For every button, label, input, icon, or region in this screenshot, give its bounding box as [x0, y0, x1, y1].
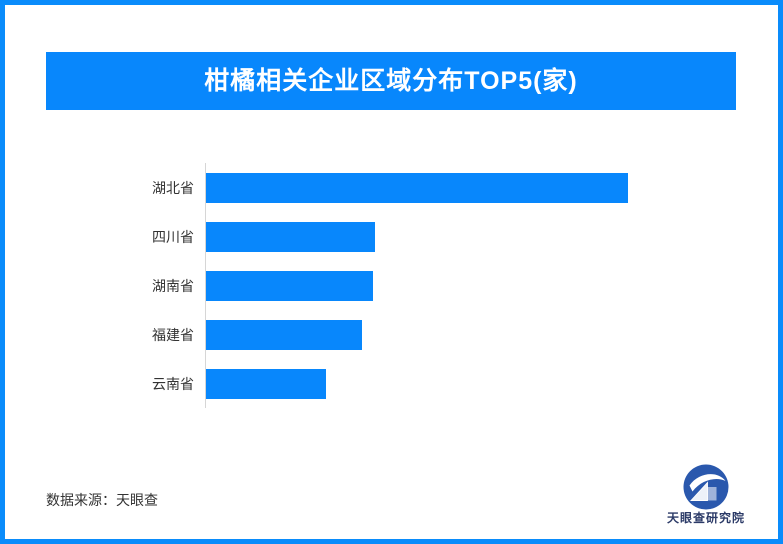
bar-track [206, 222, 736, 252]
bar-track [206, 173, 736, 203]
chart-plot-area: 湖北省四川省湖南省福建省云南省 [46, 155, 736, 417]
brand-logo-block: 天眼查研究院 [656, 463, 756, 531]
data-source-note: 数据来源：天眼查 [46, 493, 158, 507]
bar-row: 湖北省 [46, 163, 736, 212]
category-label: 云南省 [46, 377, 194, 391]
bar-row: 四川省 [46, 212, 736, 261]
category-label: 四川省 [46, 230, 194, 244]
bar-track [206, 271, 736, 301]
chart-title-banner: 柑橘相关企业区域分布TOP5(家) [46, 52, 736, 110]
bar-row: 湖南省 [46, 261, 736, 310]
bar-云南省 [206, 369, 326, 399]
page-title: 柑橘相关企业区域分布TOP5(家) [204, 69, 578, 94]
infographic-canvas: 柑橘相关企业区域分布TOP5(家) 湖北省四川省湖南省福建省云南省 数据来源：天… [0, 0, 783, 544]
brand-logo-caption: 天眼查研究院 [667, 512, 745, 524]
bar-track [206, 369, 736, 399]
bar-row: 云南省 [46, 359, 736, 408]
category-label: 湖北省 [46, 181, 194, 195]
bar-湖南省 [206, 271, 373, 301]
bar-湖北省 [206, 173, 628, 203]
bar-福建省 [206, 320, 362, 350]
category-label: 福建省 [46, 328, 194, 342]
bar-track [206, 320, 736, 350]
tianyancha-eye-logo-icon [682, 463, 730, 511]
bar-row: 福建省 [46, 310, 736, 359]
bar-四川省 [206, 222, 375, 252]
bar-rows: 湖北省四川省湖南省福建省云南省 [46, 163, 736, 408]
category-label: 湖南省 [46, 279, 194, 293]
